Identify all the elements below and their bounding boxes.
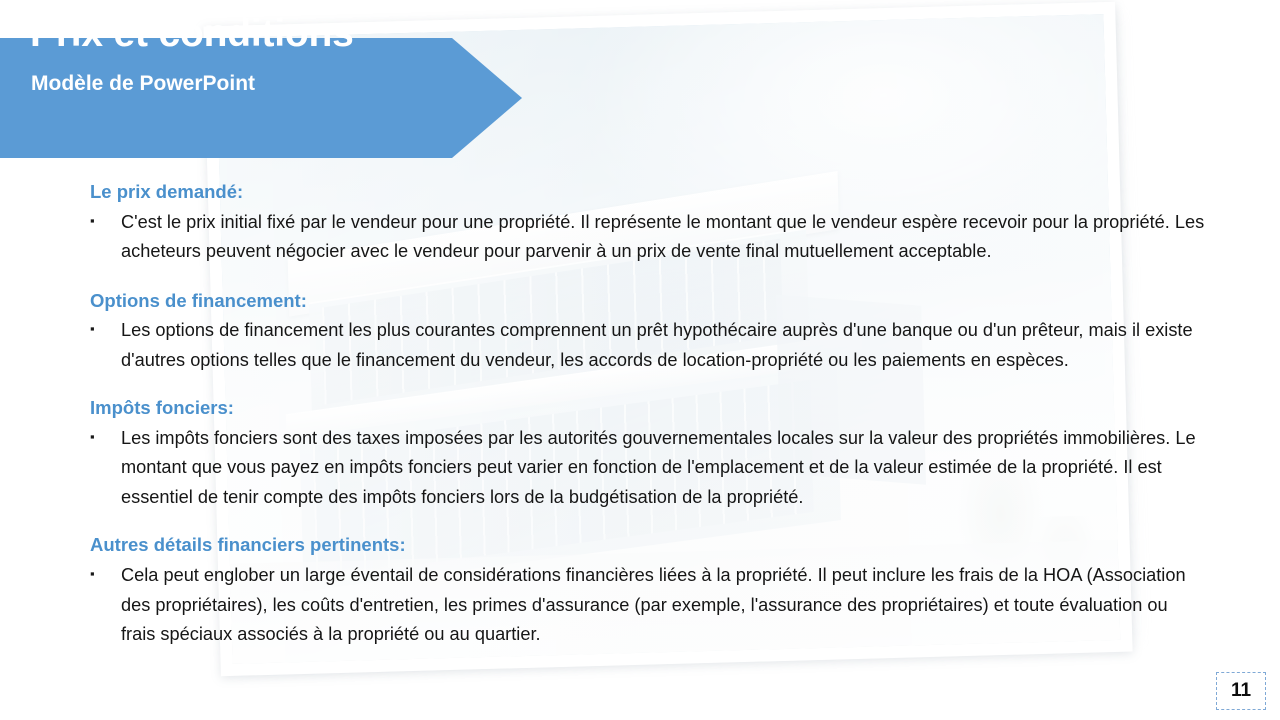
section-autres-details-financiers: Autres détails financiers pertinents: ▪ … (90, 533, 1225, 649)
content-body: Le prix demandé: ▪ C'est le prix initial… (90, 180, 1225, 666)
slide-number-placeholder[interactable]: 11 (1216, 672, 1266, 710)
slide-subtitle: Modèle de PowerPoint (31, 72, 255, 96)
bullet-item: ▪ Les impôts fonciers sont des taxes imp… (90, 424, 1225, 512)
slide-canvas: Prix et conditions Modèle de PowerPoint … (0, 0, 1280, 720)
bullet-item: ▪ C'est le prix initial fixé par le vend… (90, 208, 1225, 267)
slide-number: 11 (1231, 680, 1251, 702)
bullet-text: C'est le prix initial fixé par le vendeu… (121, 208, 1213, 267)
bullet-item: ▪ Cela peut englober un large éventail d… (90, 561, 1225, 649)
section-heading: Le prix demandé: (90, 180, 1225, 204)
section-heading: Autres détails financiers pertinents: (90, 533, 1225, 557)
bullet-item: ▪ Les options de financement les plus co… (90, 316, 1225, 375)
slide-title: Prix et conditions (30, 12, 354, 56)
section-impots-fonciers: Impôts fonciers: ▪ Les impôts fonciers s… (90, 396, 1225, 512)
section-heading: Options de financement: (90, 289, 1225, 313)
bullet-text: Cela peut englober un large éventail de … (121, 561, 1196, 649)
section-heading: Impôts fonciers: (90, 396, 1225, 420)
bullet-marker-icon: ▪ (90, 561, 121, 584)
bullet-marker-icon: ▪ (90, 424, 121, 447)
section-le-prix-demande: Le prix demandé: ▪ C'est le prix initial… (90, 180, 1225, 267)
bullet-marker-icon: ▪ (90, 316, 121, 339)
bullet-text: Les impôts fonciers sont des taxes impos… (121, 424, 1219, 512)
bullet-marker-icon: ▪ (90, 208, 121, 231)
title-banner (0, 38, 522, 158)
bullet-text: Les options de financement les plus cour… (121, 316, 1213, 375)
section-options-de-financement: Options de financement: ▪ Les options de… (90, 289, 1225, 376)
